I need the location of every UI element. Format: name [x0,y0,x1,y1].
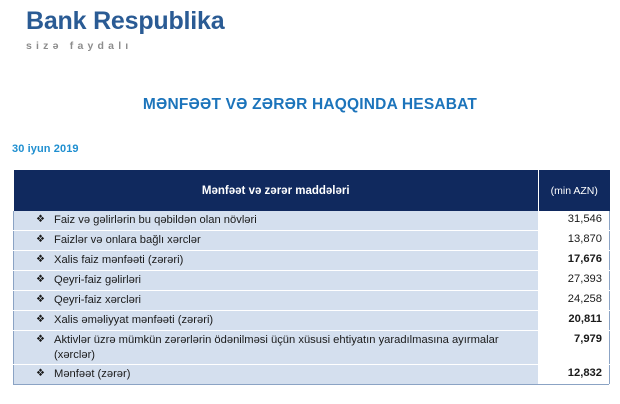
table-cell-label: ❖Qeyri-faiz gəlirləri [14,271,539,291]
diamond-bullet-icon: ❖ [36,253,54,267]
diamond-bullet-icon: ❖ [36,293,54,307]
table-cell-label: ❖Mənfəət (zərər) [14,365,539,385]
table-row-label: Qeyri-faiz xərcləri [54,293,538,308]
table-row-value: 27,393 [539,271,610,291]
report-date: 30 iyun 2019 [12,143,79,155]
table-cell-label: ❖Xalis əməliyyat mənfəəti (zərəri) [14,311,539,331]
brand-tagline: sizə faydalı [26,40,326,52]
brand-wordmark: Bank Respublika [26,8,326,34]
table-row-label: Xalis faiz mənfəəti (zərəri) [54,253,538,268]
profit-loss-table: Mənfəət və zərər maddələri (min AZN) ❖Fa… [13,170,610,384]
diamond-bullet-icon: ❖ [36,213,54,227]
table-row-label: Xalis əməliyyat mənfəəti (zərəri) [54,313,538,328]
table-row-value: 17,676 [539,251,610,271]
page-title: MƏNFƏƏT VƏ ZƏRƏR HAQQINDA HESABAT [0,96,620,114]
diamond-bullet-icon: ❖ [36,313,54,327]
diamond-bullet-icon: ❖ [36,233,54,247]
table-row-label: Faizlər və onlara bağlı xərclər [54,233,538,248]
table-row: ❖Aktivlər üzrə mümkün zərərlərin ödənilm… [14,331,610,365]
table-row-value: 12,832 [539,365,610,385]
table-row-label: Aktivlər üzrə mümkün zərərlərin ödənilmə… [54,333,538,363]
table-cell-label: ❖Faiz və gəlirlərin bu qəbildən olan növ… [14,211,539,231]
table-row: ❖Xalis əməliyyat mənfəəti (zərəri)20,811 [14,311,610,331]
table-row-value: 31,546 [539,211,610,231]
table-body: ❖Faiz və gəlirlərin bu qəbildən olan növ… [14,211,610,384]
table-row-value: 13,870 [539,231,610,251]
table-row: ❖Faizlər və onlara bağlı xərclər13,870 [14,231,610,251]
table-header-row: Mənfəət və zərər maddələri (min AZN) [14,170,610,211]
table-row-label: Faiz və gəlirlərin bu qəbildən olan növl… [54,213,538,228]
table-row: ❖Xalis faiz mənfəəti (zərəri)17,676 [14,251,610,271]
table-cell-label: ❖Qeyri-faiz xərcləri [14,291,539,311]
table-row-value: 7,979 [539,331,610,365]
table-row-value: 20,811 [539,311,610,331]
table-row-value: 24,258 [539,291,610,311]
table-row-label: Qeyri-faiz gəlirləri [54,273,538,288]
table-row: ❖Faiz və gəlirlərin bu qəbildən olan növ… [14,211,610,231]
column-header-unit: (min AZN) [539,170,610,211]
brand-logo: Bank Respublika sizə faydalı [26,8,326,52]
diamond-bullet-icon: ❖ [36,367,54,381]
table-row-label: Mənfəət (zərər) [54,367,538,382]
table-header: Mənfəət və zərər maddələri (min AZN) [14,170,610,211]
table-row: ❖Qeyri-faiz gəlirləri27,393 [14,271,610,291]
diamond-bullet-icon: ❖ [36,333,54,347]
table-cell-label: ❖Xalis faiz mənfəəti (zərəri) [14,251,539,271]
column-header-items: Mənfəət və zərər maddələri [14,170,539,211]
table-cell-label: ❖Aktivlər üzrə mümkün zərərlərin ödənilm… [14,331,539,365]
table-row: ❖Qeyri-faiz xərcləri24,258 [14,291,610,311]
table-bottom-rule [13,384,609,385]
diamond-bullet-icon: ❖ [36,273,54,287]
table-row: ❖Mənfəət (zərər)12,832 [14,365,610,385]
table-cell-label: ❖Faizlər və onlara bağlı xərclər [14,231,539,251]
